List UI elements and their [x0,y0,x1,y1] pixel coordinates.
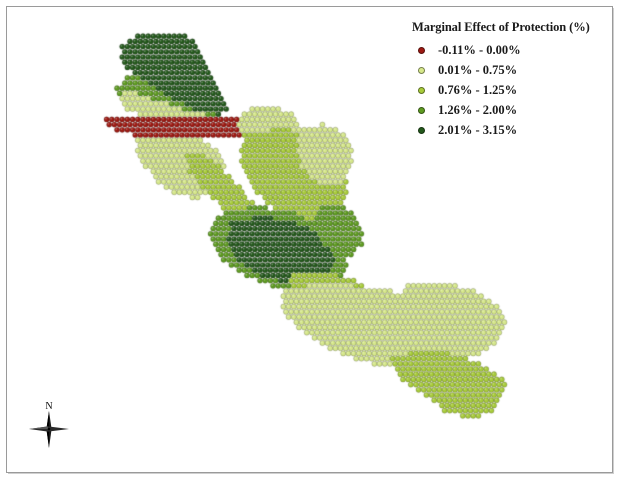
legend-swatch-icon [418,47,425,54]
north-arrow: N [27,396,71,450]
legend-entry-label: 2.01% - 3.15% [438,123,517,138]
legend-entry: 2.01% - 3.15% [418,120,602,140]
legend-title: Marginal Effect of Protection (%) [412,20,602,35]
compass-rose-icon: N [27,396,71,450]
legend-entry: -0.11% - 0.00% [418,40,602,60]
legend-entry-label: 1.26% - 2.00% [438,103,517,118]
legend-entry-label: -0.11% - 0.00% [438,43,521,58]
legend-entry: 0.01% - 0.75% [418,60,602,80]
legend-entry: 0.76% - 1.25% [418,80,602,100]
legend-swatch-icon [418,67,425,74]
legend-entry-label: 0.76% - 1.25% [438,83,517,98]
legend-swatch-icon [418,87,425,94]
svg-text:N: N [45,401,52,412]
map-legend: Marginal Effect of Protection (%) -0.11%… [412,20,602,140]
figure-page: Marginal Effect of Protection (%) -0.11%… [0,0,619,479]
legend-entry-list: -0.11% - 0.00%0.01% - 0.75%0.76% - 1.25%… [412,40,602,140]
legend-entry: 1.26% - 2.00% [418,100,602,120]
legend-entry-label: 0.01% - 0.75% [438,63,517,78]
legend-swatch-icon [418,107,425,114]
legend-swatch-icon [418,127,425,134]
